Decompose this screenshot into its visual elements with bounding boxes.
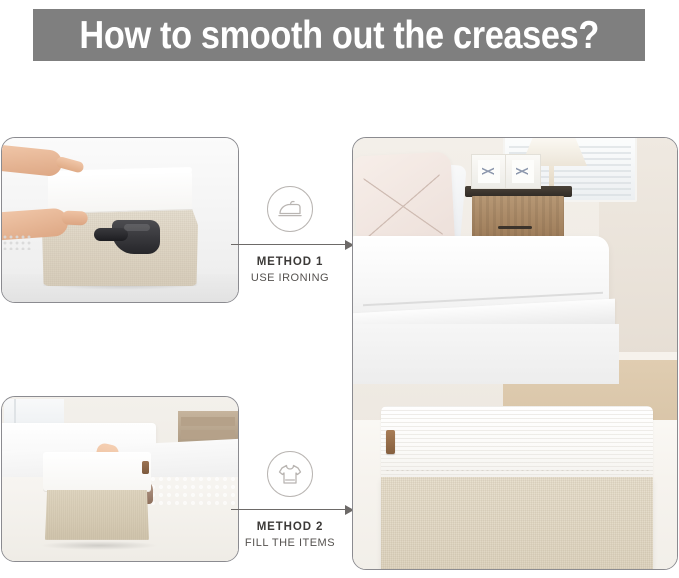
method-1-block: METHOD 1 USE IRONING [215,186,365,285]
leather-tag [386,430,395,454]
basket-stitching [385,469,649,471]
iron-icon [267,186,313,232]
infographic-root: How to smooth out the creases? [0,0,679,578]
result-scene [353,138,677,569]
bed-lower [353,324,619,384]
arrow-method-2 [215,501,365,519]
iron-handle [94,228,128,241]
basket-white-band [43,452,151,492]
basket-linen-body [45,490,149,542]
picture-frame-right [505,154,541,189]
panel-filling-photo [1,396,239,562]
ironing-scene [2,138,238,302]
leather-tag [142,461,149,474]
panel-ironing-photo [1,137,239,303]
method-1-sublabel: USE IRONING [215,271,365,286]
header-bar: How to smooth out the creases? [33,9,645,61]
tshirt-icon [267,451,313,497]
frame-artwork [478,160,500,183]
method-2-sublabel: FILL THE ITEMS [215,536,365,551]
panel-result-photo [352,137,678,570]
picture-frame-left [471,154,507,189]
arrow-line [231,244,349,245]
basket-linen-body [381,477,653,569]
basket-white-band [381,406,653,479]
page-title: How to smooth out the creases? [79,16,599,55]
method-1-label: METHOD 1 [215,255,365,271]
method-2-label: METHOD 2 [215,520,365,536]
fabric-dots [2,234,32,250]
method-2-block: METHOD 2 FILL THE ITEMS [215,451,365,550]
pillow-pattern [363,166,443,242]
iron-appliance [94,220,160,254]
arrow-line [231,509,349,510]
frame-artwork [512,160,534,183]
filling-scene [2,397,238,561]
iron-highlight [124,224,150,231]
basket-white-band [48,170,192,214]
storage-basket-hero [381,406,653,569]
arrow-method-1 [215,236,365,254]
storage-basket [43,452,151,544]
nightstand-handle [498,226,532,229]
